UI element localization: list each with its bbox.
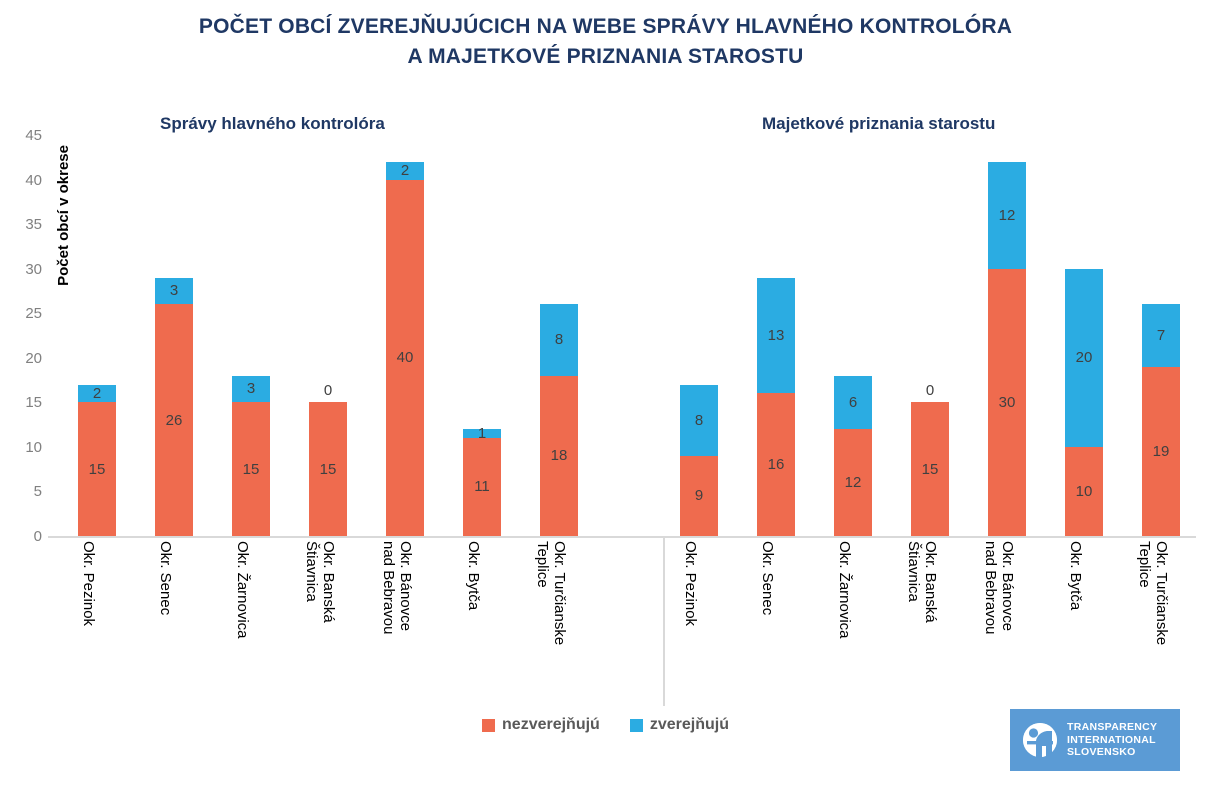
x-axis-label-line: Štiavnica [303,541,320,623]
x-axis-label-line: Okr. Banská [320,541,337,623]
bar-value-label: 11 [474,479,490,494]
x-axis-label-line: Teplice [534,541,551,645]
x-axis-label: Okr. TurčianskeTeplice [540,541,578,711]
bar-segment-nezverejnuju: 19 [1142,367,1180,536]
bar-segment-zverejnuju: 13 [757,278,795,394]
bar-stack[interactable]: 240 [386,162,424,536]
x-axis-label: Okr. Žarnovica [232,541,270,711]
bar-value-label: 20 [1076,350,1093,365]
legend-swatch-nezverejnuju [482,719,495,732]
bar-value-label: 12 [845,475,862,490]
x-axis-label-line: Okr. Bánovce [397,541,414,634]
bar-value-label: 26 [166,413,183,428]
bar-stack[interactable]: 315 [232,376,270,536]
bar-segment-zverejnuju: 20 [1065,269,1103,447]
bar-stack[interactable]: 015 [309,402,347,536]
bar-value-label: 15 [89,462,106,477]
x-axis-label-line: Okr. Bytča [1067,541,1084,610]
bar-segment-nezverejnuju: 18 [540,376,578,536]
x-axis-label-line: Okr. Pezinok [80,541,97,626]
x-axis-line [48,536,1196,538]
bar-value-label: 19 [1153,444,1170,459]
bar-segment-nezverejnuju: 11 [463,438,501,536]
x-axis-label-line: Okr. Banská [922,541,939,623]
x-axis-label-line: Okr. Turčianske [1153,541,1170,645]
bar-series-container: 2153263150152401118188913166120151230201… [0,125,1211,536]
bar-value-label: 9 [695,488,703,503]
bar-segment-nezverejnuju: 12 [834,429,872,536]
bar-segment-nezverejnuju: 15 [78,402,116,536]
x-axis-label-line: Okr. Pezinok [682,541,699,626]
x-axis-label-line: Okr. Bánovce [999,541,1016,634]
bar-segment-nezverejnuju: 26 [155,304,193,536]
bar-stack[interactable]: 111 [463,429,501,536]
bar-value-label: 0 [926,383,934,398]
plot-area: 051015202530354045 Počet obcí v okrese 2… [0,125,1211,545]
bar-stack[interactable]: 2010 [1065,269,1103,536]
bar-segment-nezverejnuju: 40 [386,180,424,536]
bar-value-label: 15 [320,462,337,477]
bar-value-label: 3 [247,381,255,396]
x-axis-label: Okr. Žarnovica [834,541,872,711]
x-axis-label: Okr. BanskáŠtiavnica [911,541,949,711]
person-in-circle-icon [1022,722,1058,758]
bar-segment-nezverejnuju: 16 [757,393,795,536]
bar-value-label: 2 [93,386,101,401]
bar-segment-nezverejnuju: 9 [680,456,718,536]
bar-value-label: 10 [1076,484,1093,499]
bar-value-label: 15 [243,462,260,477]
bar-stack[interactable]: 1230 [988,162,1026,536]
chart-canvas: POČET OBCÍ ZVEREJŇUJÚCICH NA WEBE SPRÁVY… [0,0,1211,785]
x-axis-labels: Okr. PezinokOkr. SenecOkr. ŽarnovicaOkr.… [0,541,1211,711]
x-axis-label: Okr. TurčianskeTeplice [1142,541,1180,711]
x-axis-label-line: Teplice [1136,541,1153,645]
bar-value-label: 3 [170,283,178,298]
x-axis-label-line: Okr. Senec [759,541,776,615]
bar-segment-nezverejnuju: 15 [232,402,270,536]
bar-segment-zverejnuju: 12 [988,162,1026,269]
bar-value-label: 0 [324,383,332,398]
bar-value-label: 7 [1157,328,1165,343]
bar-segment-zverejnuju: 1 [463,429,501,438]
x-axis-label: Okr. Pezinok [78,541,116,711]
bar-segment-zverejnuju: 8 [540,304,578,375]
bar-stack[interactable]: 612 [834,376,872,536]
bar-segment-nezverejnuju: 15 [911,402,949,536]
bar-value-label: 8 [555,332,563,347]
bar-segment-zverejnuju: 6 [834,376,872,429]
logo-line-1: TRANSPARENCY [1067,721,1157,734]
bar-stack[interactable]: 818 [540,304,578,536]
bar-stack[interactable]: 1316 [757,278,795,536]
bar-value-label: 12 [999,208,1016,223]
x-axis-label: Okr. Senec [155,541,193,711]
legend-item-zverejnuju[interactable]: zverejňujú [630,716,729,734]
x-axis-label: Okr. Bytča [1065,541,1103,711]
x-axis-label: Okr. Senec [757,541,795,711]
x-axis-label-line: Okr. Senec [157,541,174,615]
title-line-2: A MAJETKOVÉ PRIZNANIA STAROSTU [0,42,1211,72]
x-axis-label: Okr. BanskáŠtiavnica [309,541,347,711]
logo-line-3: SLOVENSKO [1067,746,1157,759]
x-axis-label: Okr. Pezinok [680,541,718,711]
legend-item-nezverejnuju[interactable]: nezverejňujú [482,716,600,734]
x-axis-label-line: Okr. Turčianske [551,541,568,645]
legend-swatch-zverejnuju [630,719,643,732]
bar-value-label: 40 [397,350,414,365]
title-line-1: POČET OBCÍ ZVEREJŇUJÚCICH NA WEBE SPRÁVY… [0,12,1211,42]
bar-value-label: 13 [768,328,785,343]
bar-value-label: 6 [849,395,857,410]
x-axis-label-line: nad Bebravou [380,541,397,634]
x-axis-label-line: Okr. Žarnovica [836,541,853,639]
legend-label-zverejnuju: zverejňujú [650,716,729,734]
logo-line-2: INTERNATIONAL [1067,734,1157,747]
legend-label-nezverejnuju: nezverejňujú [502,716,600,734]
x-axis-label-line: Okr. Bytča [465,541,482,610]
bar-stack[interactable]: 326 [155,278,193,536]
logo-wordmark: TRANSPARENCY INTERNATIONAL SLOVENSKO [1067,721,1157,759]
bar-stack[interactable]: 015 [911,402,949,536]
bar-segment-zverejnuju: 8 [680,385,718,456]
page-title: POČET OBCÍ ZVEREJŇUJÚCICH NA WEBE SPRÁVY… [0,12,1211,72]
x-axis-label: Okr. Bánovcenad Bebravou [988,541,1026,711]
bar-segment-zverejnuju: 7 [1142,304,1180,366]
x-axis-label-line: Okr. Žarnovica [234,541,251,639]
bar-stack[interactable]: 719 [1142,304,1180,536]
bar-segment-nezverejnuju: 10 [1065,447,1103,536]
bar-segment-zverejnuju: 2 [78,385,116,403]
bar-value-label: 16 [768,457,785,472]
bar-value-label: 18 [551,448,568,463]
x-axis-label-line: Štiavnica [905,541,922,623]
bar-segment-nezverejnuju: 30 [988,269,1026,536]
bar-value-label: 15 [922,462,939,477]
bar-value-label: 2 [401,163,409,178]
x-axis-label: Okr. Bytča [463,541,501,711]
bar-stack[interactable]: 89 [680,385,718,536]
bar-stack[interactable]: 215 [78,385,116,536]
bar-segment-nezverejnuju: 15 [309,402,347,536]
bar-value-label: 30 [999,395,1016,410]
x-axis-label-line: nad Bebravou [982,541,999,634]
bar-segment-zverejnuju: 2 [386,162,424,180]
bar-value-label: 8 [695,413,703,428]
transparency-international-logo: TRANSPARENCY INTERNATIONAL SLOVENSKO [1010,709,1180,771]
bar-segment-zverejnuju: 3 [232,376,270,403]
x-axis-label: Okr. Bánovcenad Bebravou [386,541,424,711]
bar-segment-zverejnuju: 3 [155,278,193,305]
